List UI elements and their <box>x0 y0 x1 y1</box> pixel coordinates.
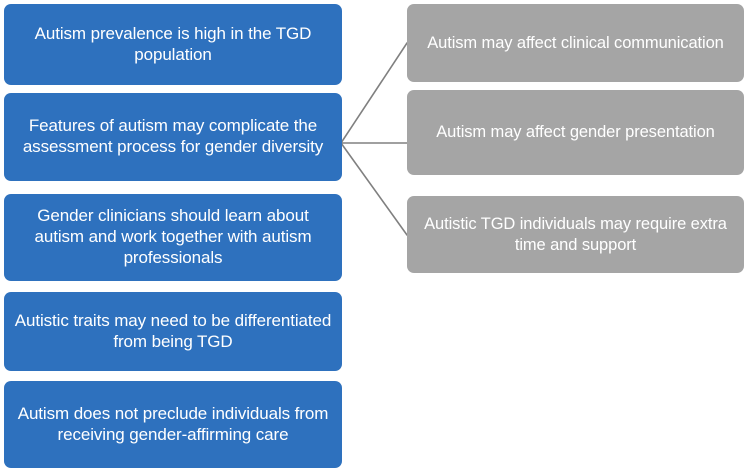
node-label: Features of autism may complicate the as… <box>14 116 332 157</box>
node-autism-prevalence-tgd[interactable]: Autism prevalence is high in the TGD pop… <box>4 4 342 85</box>
node-label: Gender clinicians should learn about aut… <box>14 206 332 268</box>
node-label: Autistic traits may need to be different… <box>14 311 332 352</box>
connector-to-gray-3 <box>341 143 407 235</box>
node-label: Autism does not preclude individuals fro… <box>14 404 332 445</box>
node-label: Autism may affect clinical communication <box>417 33 734 53</box>
diagram-canvas: Autism prevalence is high in the TGD pop… <box>0 0 748 473</box>
node-autistic-traits-differentiated[interactable]: Autistic traits may need to be different… <box>4 292 342 371</box>
node-features-complicate-assessment[interactable]: Features of autism may complicate the as… <box>4 93 342 181</box>
node-autism-not-preclude-care[interactable]: Autism does not preclude individuals fro… <box>4 381 342 468</box>
node-label: Autism may affect gender presentation <box>417 122 734 142</box>
node-label: Autism prevalence is high in the TGD pop… <box>14 24 332 65</box>
connector-to-gray-1 <box>341 43 407 143</box>
node-affect-clinical-communication[interactable]: Autism may affect clinical communication <box>407 4 744 82</box>
node-require-extra-time-support[interactable]: Autistic TGD individuals may require ext… <box>407 196 744 273</box>
node-affect-gender-presentation[interactable]: Autism may affect gender presentation <box>407 90 744 175</box>
node-label: Autistic TGD individuals may require ext… <box>411 214 740 254</box>
node-clinicians-learn-about-autism[interactable]: Gender clinicians should learn about aut… <box>4 194 342 281</box>
